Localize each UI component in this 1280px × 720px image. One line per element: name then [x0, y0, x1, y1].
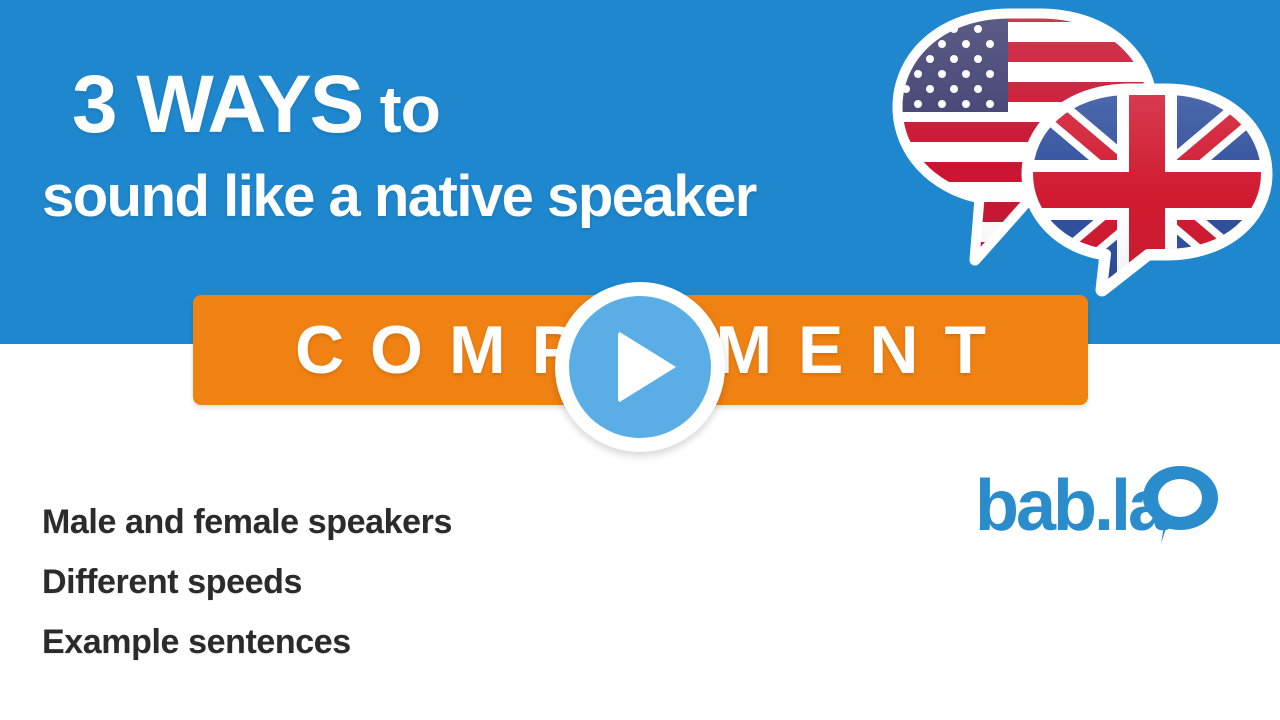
slide-canvas: 3 WAYS to sound like a native speaker [0, 0, 1280, 720]
babla-logo-svg: bab.la [975, 458, 1225, 558]
play-icon [618, 331, 676, 403]
flag-bubbles-svg [880, 2, 1280, 302]
flag-bubbles-group [880, 2, 1280, 302]
headline-strong: 3 WAYS [72, 59, 362, 150]
babla-logo: bab.la [975, 458, 1225, 558]
uk-flag-bubble [1020, 82, 1280, 302]
play-button[interactable] [555, 282, 725, 452]
list-item: Example sentences [42, 612, 452, 672]
headline-light: to [362, 72, 440, 146]
list-item: Male and female speakers [42, 492, 452, 552]
page-subtitle: sound like a native speaker [42, 168, 756, 226]
page-title: 3 WAYS to [72, 64, 440, 146]
babla-wordmark: bab.la [975, 466, 1169, 546]
feature-list: Male and female speakers Different speed… [42, 492, 452, 672]
list-item: Different speeds [42, 552, 452, 612]
play-button-circle [569, 296, 711, 438]
